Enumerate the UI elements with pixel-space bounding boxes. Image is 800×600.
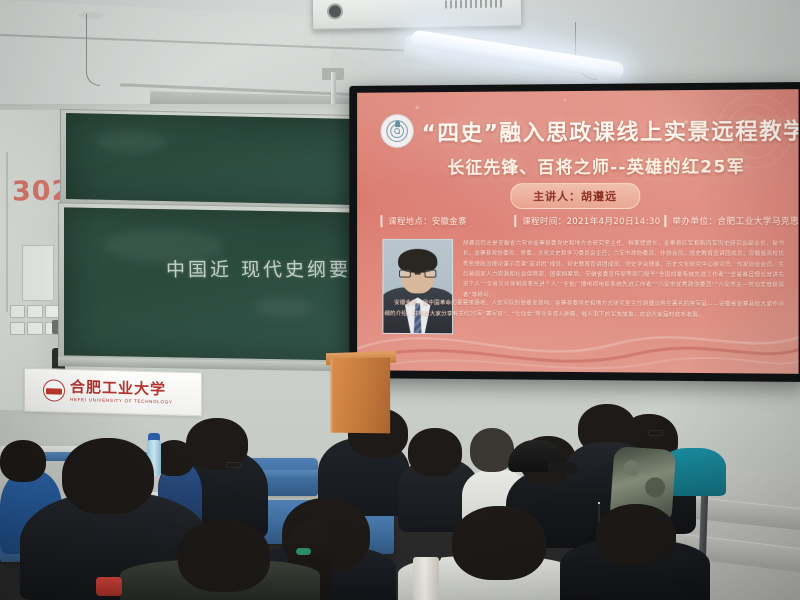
glasses-icon — [425, 270, 437, 278]
projection-screen: “四史”融入思政课线上实景远程教学 长征先锋、百将之师--英雄的红25军 主讲人… — [357, 89, 798, 374]
sparkle — [564, 99, 566, 101]
chalkboard-main — [64, 207, 360, 360]
slide-meta-row: 课程地点：安徽金寨 课程时间：2021年4月20日14:30 举办单位：合肥工业… — [371, 215, 789, 229]
banner-name-cn: 合肥工业大学 — [70, 380, 173, 398]
meta-organizer: 举办单位：合肥工业大学马克思主义学院 — [664, 215, 798, 227]
slide-subtitle: 长征先锋、百将之师--英雄的红25军 — [416, 152, 778, 178]
speaker-badge: 主讲人：胡遵远 — [510, 183, 640, 209]
hfut-seal-icon — [380, 114, 413, 148]
university-seal-icon — [43, 379, 65, 402]
chalk-smudge — [96, 130, 166, 153]
banner-name-en: HEFEI UNIVERSITY OF TECHNOLOGY — [70, 398, 173, 405]
pillar-seam — [6, 152, 8, 312]
speaker-portrait — [382, 239, 453, 334]
university-banner: 合肥工业大学 HEFEI UNIVERSITY OF TECHNOLOGY — [24, 368, 202, 417]
chalk-smudge — [254, 297, 314, 318]
switch-plate — [22, 245, 54, 301]
wooden-lectern — [330, 358, 390, 434]
sparkle — [416, 106, 419, 109]
speaker-bio: 胡遵远同志是安徽省六安市金寨县委党史和地方志研究室主任、档案馆馆长，金寨县红军和… — [463, 239, 784, 302]
ceiling-projector-icon — [312, 0, 523, 30]
meta-location: 课程地点：安徽金寨 — [380, 215, 466, 227]
glasses-icon — [399, 270, 411, 278]
slide-title: “四史”融入思政课线上实景远程教学 — [422, 114, 789, 148]
projector-lens-icon — [327, 3, 343, 19]
hanging-wire — [86, 14, 100, 86]
lecture-hall-photo: 302 中国近 现代史纲要 合肥工业大学 HEFEI UNIVERSITY OF… — [0, 0, 800, 600]
projection-screen-bezel: “四史”融入思政课线上实景远程教学 长征先锋、百将之师--英雄的红25军 主讲人… — [349, 82, 800, 382]
glasses-icon — [648, 430, 663, 436]
projector-vent — [445, 0, 503, 9]
red-item — [96, 577, 122, 596]
chalkboard-text: 中国近 现代史纲要 — [166, 255, 351, 282]
meta-time: 课程时间：2021年4月20日14:30 — [514, 215, 660, 227]
glasses-bridge — [415, 273, 421, 275]
travel-mug — [413, 557, 439, 600]
chalkboard-upper — [66, 113, 356, 205]
glasses-icon — [226, 462, 241, 468]
lecture-summary: 安徽金寨，是中国革命的重要策源地、人民军队的重要发源地。金寨县委党史和地方志研究… — [384, 298, 784, 321]
light-switch-row[interactable] — [10, 305, 60, 318]
hair-tie — [296, 548, 311, 555]
